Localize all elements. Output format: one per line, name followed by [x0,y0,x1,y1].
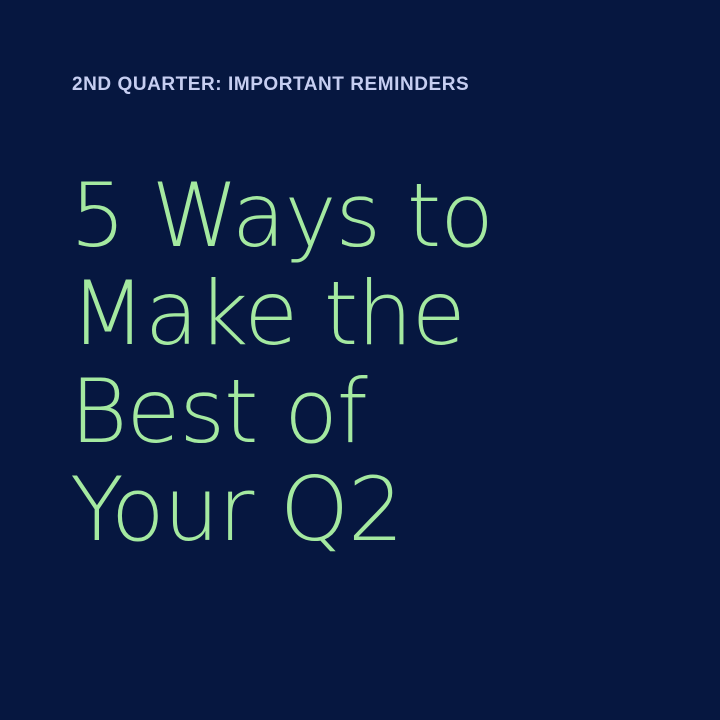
headline-line-1: 5 Ways to [70,167,670,265]
eyebrow-kicker: 2ND QUARTER: IMPORTANT REMINDERS [72,73,469,97]
headline-line-2: Make the [70,265,670,363]
headline-line-4: Your Q2 [70,461,670,559]
title-card: 2ND QUARTER: IMPORTANT REMINDERS 5 Ways … [0,0,720,720]
headline-line-3: Best of [70,363,670,461]
page-title: 5 Ways to Make the Best of Your Q2 [70,167,670,559]
